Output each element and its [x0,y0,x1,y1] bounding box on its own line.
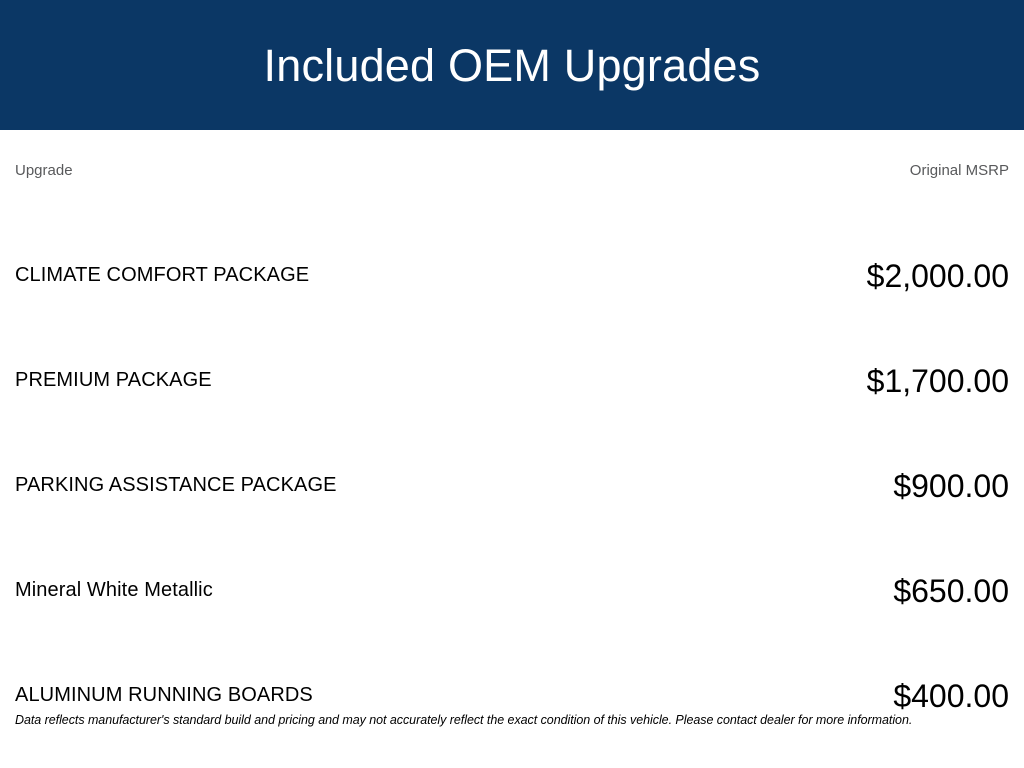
table-row: PARKING ASSISTANCE PACKAGE $900.00 [15,433,1009,538]
disclaimer-text: Data reflects manufacturer's standard bu… [15,712,1009,728]
upgrade-price: $400.00 [893,680,1009,712]
table-row: CLIMATE COMFORT PACKAGE $2,000.00 [15,223,1009,328]
table-column-headers: Upgrade Original MSRP [15,130,1009,203]
column-header-original-msrp: Original MSRP [910,163,1009,178]
upgrade-price: $650.00 [893,575,1009,607]
table-body: CLIMATE COMFORT PACKAGE $2,000.00 PREMIU… [15,223,1009,748]
column-header-upgrade: Upgrade [15,163,73,178]
table-row: Mineral White Metallic $650.00 [15,538,1009,643]
upgrade-price: $2,000.00 [867,260,1009,292]
upgrade-name: ALUMINUM RUNNING BOARDS [15,684,893,707]
upgrade-name: Mineral White Metallic [15,579,893,602]
upgrade-name: PARKING ASSISTANCE PACKAGE [15,474,893,497]
upgrades-table: Upgrade Original MSRP CLIMATE COMFORT PA… [0,130,1024,768]
table-row: ALUMINUM RUNNING BOARDS $400.00 [15,643,1009,748]
upgrade-name: PREMIUM PACKAGE [15,369,867,392]
upgrade-name: CLIMATE COMFORT PACKAGE [15,264,867,287]
page-title: Included OEM Upgrades [264,43,761,88]
upgrade-price: $1,700.00 [867,365,1009,397]
header-banner: Included OEM Upgrades [0,0,1024,130]
table-row: PREMIUM PACKAGE $1,700.00 [15,328,1009,433]
upgrade-price: $900.00 [893,470,1009,502]
